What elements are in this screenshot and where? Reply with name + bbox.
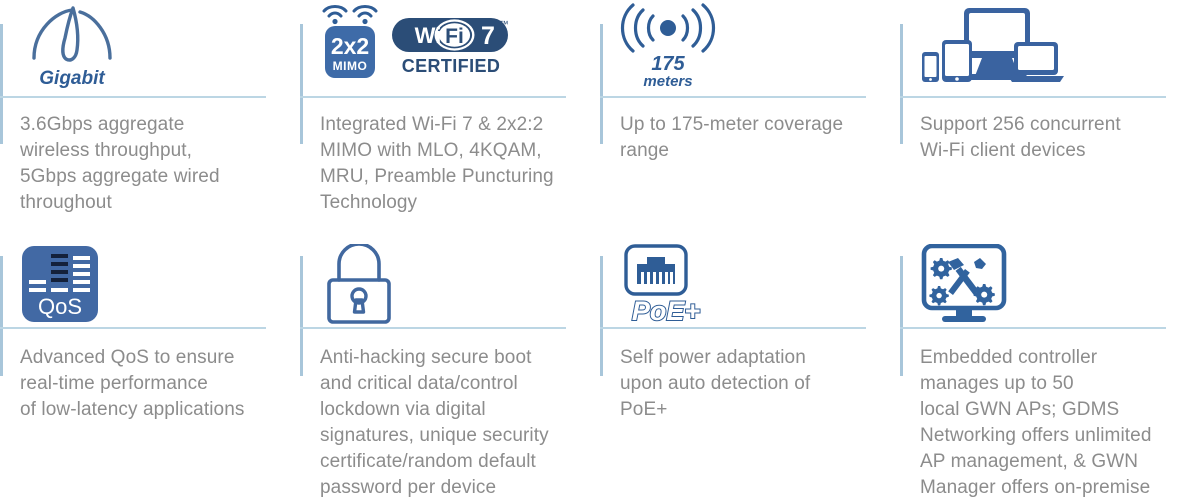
mimo-badge-bottom-label: MIMO [333, 59, 368, 73]
feature-text: Support 256 concurrent Wi-Fi client devi… [914, 112, 1192, 164]
wifi-badge-wi-label: Wi [415, 23, 442, 48]
mimo-2x2-badge-icon: 2x2 MIMO [320, 2, 380, 78]
icon-area: 175 meters [614, 0, 900, 92]
multi-device-clients-icon [920, 2, 1060, 88]
feature-cell-wifi7: 2x2 MIMO Wi Fi 7 ™ CERTIFIED Integrat [300, 0, 600, 230]
wifi-badge-trademark-icon: ™ [500, 19, 509, 29]
icon-area: Gigabit [14, 0, 300, 92]
cell-accent-rule [300, 24, 303, 144]
icon-area: PoE+ [614, 230, 900, 327]
feature-cell-gigabit: Gigabit 3.6Gbps aggregate wireless throu… [0, 0, 300, 230]
feature-cell-qos: QoS Advanced QoS to ensure real-time per… [0, 230, 300, 501]
feature-text: Anti-hacking secure boot and critical da… [314, 345, 592, 501]
cell-divider [600, 96, 866, 98]
qos-icon-label: QoS [38, 294, 82, 319]
embedded-controller-management-icon [920, 244, 1006, 328]
qos-equalizer-icon: QoS [20, 244, 98, 322]
feature-cell-clients: Support 256 concurrent Wi-Fi client devi… [900, 0, 1200, 230]
cell-divider [0, 96, 266, 98]
feature-cell-poe: PoE+ Self power adaptation upon auto det… [600, 230, 900, 501]
wifi-badge-certified-label: CERTIFIED [402, 56, 501, 76]
wifi-badge-fi-label: Fi [445, 25, 464, 48]
poe-plus-ethernet-port-icon: PoE+ [620, 244, 712, 328]
icon-area: 2x2 MIMO Wi Fi 7 ™ CERTIFIED [314, 0, 600, 92]
icon-area: QoS [14, 230, 300, 327]
mimo-badge-top-label: 2x2 [331, 33, 369, 59]
cell-accent-rule [600, 256, 603, 376]
icon-area [314, 230, 600, 327]
gigabit-speedometer-icon: Gigabit [20, 2, 124, 90]
padlock-security-icon [320, 244, 396, 326]
gigabit-icon-label: Gigabit [39, 68, 105, 89]
feature-text: Embedded controller manages up to 50 loc… [914, 345, 1192, 501]
wifi-7-certified-badge-icon: Wi Fi 7 ™ CERTIFIED [390, 18, 508, 80]
feature-text: Self power adaptation upon auto detectio… [614, 345, 892, 423]
feature-text: Advanced QoS to ensure real-time perform… [14, 345, 292, 423]
feature-cell-management: Embedded controller manages up to 50 loc… [900, 230, 1200, 501]
cell-divider [300, 327, 566, 329]
icon-area [914, 230, 1200, 327]
cell-accent-rule [900, 24, 903, 144]
cell-accent-rule [300, 256, 303, 376]
feature-grid: Gigabit 3.6Gbps aggregate wireless throu… [0, 0, 1200, 501]
wifi-badge-generation-label: 7 [481, 22, 495, 50]
poe-icon-label: PoE+ [632, 296, 701, 326]
feature-text: Integrated Wi-Fi 7 & 2x2:2 MIMO with MLO… [314, 112, 592, 216]
icon-area [914, 0, 1200, 92]
cell-divider [900, 96, 1166, 98]
wireless-coverage-range-icon: 175 meters [620, 2, 712, 90]
cell-accent-rule [600, 24, 603, 144]
cell-accent-rule [900, 256, 903, 376]
coverage-unit-label: meters [643, 73, 692, 90]
cell-accent-rule [0, 24, 3, 144]
feature-cell-security: Anti-hacking secure boot and critical da… [300, 230, 600, 501]
coverage-value-label: 175 [651, 53, 685, 75]
cell-divider [0, 327, 266, 329]
feature-cell-coverage: 175 meters Up to 175-meter coverage rang… [600, 0, 900, 230]
feature-text: 3.6Gbps aggregate wireless throughput, 5… [14, 112, 292, 216]
cell-divider [300, 96, 566, 98]
feature-text: Up to 175-meter coverage range [614, 112, 892, 164]
cell-accent-rule [0, 256, 3, 376]
